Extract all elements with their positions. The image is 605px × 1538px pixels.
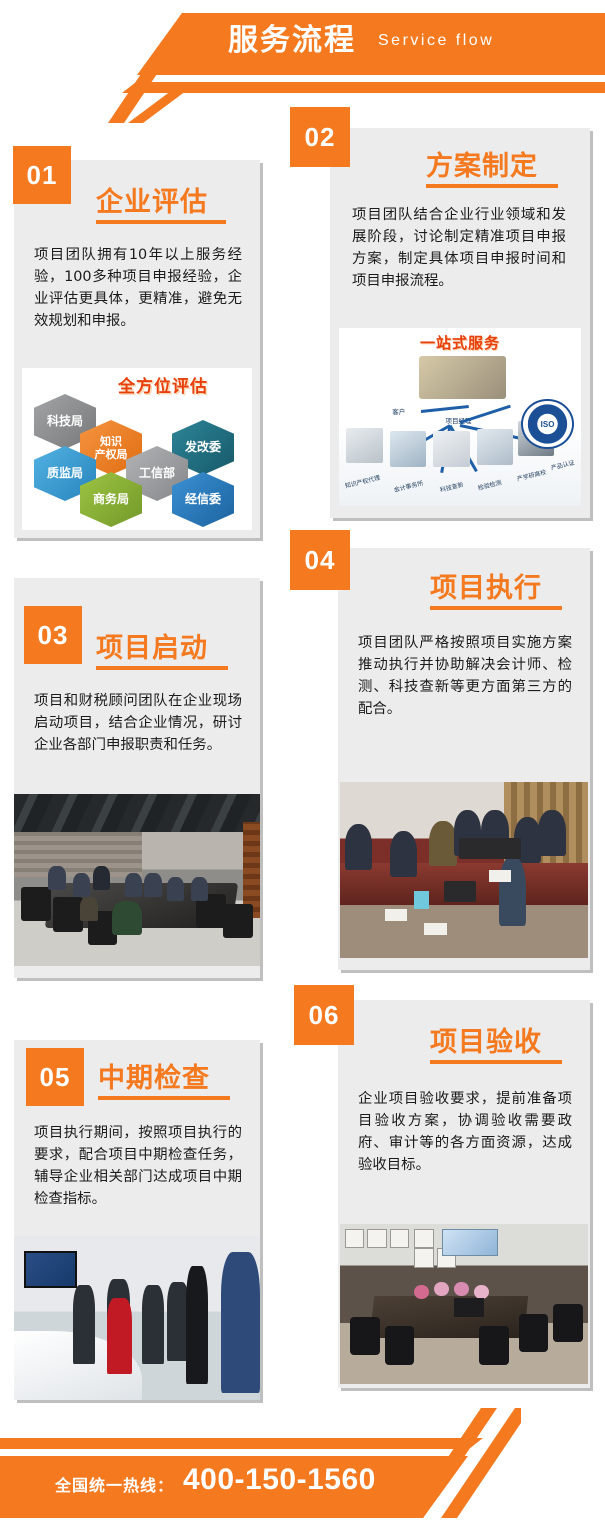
photo-laptop [459, 838, 491, 859]
photo-wall-frame [414, 1248, 433, 1268]
card-badge-06: 06 [294, 985, 354, 1045]
card-title-rule-03 [96, 666, 228, 670]
card-title-rule-06 [430, 1060, 562, 1064]
photo-person [429, 821, 456, 867]
photo-chair [350, 1317, 380, 1355]
oss-footer-label-6: 产品认证 [550, 458, 575, 473]
photo-wall-frame [345, 1229, 364, 1249]
hex-node-label: 工信部 [139, 467, 175, 480]
card-badge-04: 04 [290, 530, 350, 590]
photo-person-red-coat [107, 1298, 132, 1373]
photo-laptop [444, 881, 476, 902]
photo-flowers [454, 1282, 469, 1296]
iso-seal-icon: ISO [521, 399, 573, 449]
photo-paper [385, 909, 407, 921]
footer-stripe [0, 1438, 483, 1449]
oss-footer-label-5: 产学研高校 [516, 467, 547, 483]
photo-person [191, 877, 208, 901]
hex-node-label: 发改委 [185, 441, 221, 454]
step-card-01[interactable]: 企业评估 项目团队拥有10年以上服务经验，100多种项目申报经验，企业评估更具体… [14, 160, 260, 538]
hex-node-label: 质监局 [47, 467, 83, 480]
step-card-05[interactable]: 中期检查 项目执行期间，按照项目执行的要求，配合项目中期检查任务，辅导企业相关部… [14, 1040, 260, 1400]
photo-person [93, 866, 110, 890]
hotline-label: 全国统一热线： [55, 1472, 174, 1496]
page-subtitle: Service flow [378, 32, 494, 50]
hex-diagram: 全方位评估 科技局 知识 产权局 发改委 质监局 工信部 商务局 经信委 [22, 368, 252, 530]
header-stripe [122, 82, 605, 93]
card-title-rule-05 [98, 1096, 230, 1100]
card-badge-02: 02 [290, 107, 350, 167]
page-footer: 全国统一热线： 400-150-1560 [0, 1400, 605, 1538]
photo-chair [519, 1314, 549, 1352]
card-title-05: 中期检查 [98, 1056, 210, 1095]
header-band [137, 13, 605, 75]
card-title-rule-04 [430, 606, 562, 610]
photo-showroom-tour [14, 1236, 260, 1400]
one-stop-service-diagram: 一站式服务 客户 项目经理 ISO 知识产权代理 会计事务所 科技查新 检验检测… [339, 328, 581, 506]
oss-label-customer: 客户 [392, 406, 405, 416]
photo-laptop [454, 1298, 484, 1317]
card-body-05: 项目执行期间，按照项目执行的要求，配合项目中期检查任务，辅导企业相关部门达成项目… [34, 1122, 242, 1210]
card-title-02: 方案制定 [426, 144, 538, 183]
hex-node-label: 商务局 [93, 493, 129, 506]
hex-node-label: 知识 产权局 [95, 435, 128, 461]
step-card-02[interactable]: 方案制定 项目团队结合企业行业领域和发展阶段，讨论制定精准项目申报方案，制定具体… [330, 128, 590, 518]
photo-person [73, 1285, 95, 1364]
photo-paper [489, 870, 511, 882]
oss-footer-label-1: 知识产权代理 [344, 473, 381, 490]
photo-wall-frame [367, 1229, 386, 1249]
oss-hub-photo [419, 356, 506, 399]
photo-laptop [489, 838, 521, 859]
card-badge-05: 05 [26, 1048, 84, 1106]
hex-node-label: 经信委 [185, 493, 221, 506]
photo-flowers [434, 1282, 449, 1296]
card-body-02: 项目团队结合企业行业领域和发展阶段，讨论制定精准项目申报方案，制定具体项目申报时… [352, 204, 566, 292]
photo-person [125, 873, 142, 897]
photo-paper [424, 923, 446, 935]
oss-footer-label-3: 科技查新 [438, 479, 463, 494]
oss-node-3 [433, 431, 469, 467]
card-title-rule-02 [426, 184, 558, 188]
photo-chair [21, 887, 51, 921]
photo-wall-frame [390, 1229, 409, 1249]
step-card-06[interactable]: 项目验收 企业项目验收要求，提前准备项目验收方案，协调验收需要政府、审计等的各方… [338, 1000, 590, 1388]
card-title-03: 项目启动 [96, 626, 208, 665]
oss-node-4 [477, 429, 513, 465]
photo-conference-room [14, 794, 260, 966]
photo-person [186, 1266, 208, 1384]
card-body-04: 项目团队严格按照项目实施方案推动执行并协助解决会计师、检测、科技查新等更方面第三… [358, 632, 572, 720]
oss-footer-label-2: 会计事务所 [392, 478, 423, 494]
photo-person [144, 873, 161, 897]
photo-display-screen [24, 1251, 77, 1288]
photo-wall [14, 832, 142, 877]
photo-person [345, 824, 372, 870]
page-header: 服务流程 Service flow [0, 0, 605, 110]
photo-ceiling [14, 794, 260, 832]
photo-person [167, 877, 184, 901]
oss-node-1 [346, 428, 382, 464]
page-title: 服务流程 [228, 20, 356, 62]
photo-chair [553, 1304, 583, 1342]
hex-diagram-title: 全方位评估 [118, 372, 208, 397]
card-title-01: 企业评估 [96, 180, 208, 219]
photo-person [48, 866, 65, 890]
photo-bag [414, 891, 429, 909]
photo-chair [385, 1326, 415, 1364]
photo-acceptance-meeting [340, 1224, 588, 1384]
photo-projector-screen [442, 1229, 499, 1257]
step-card-03[interactable]: 项目启动 项目和财税顾问团队在企业现场启动项目，结合企业情况，研讨企业各部门申报… [14, 578, 260, 978]
photo-person [538, 810, 565, 856]
card-title-rule-01 [96, 220, 226, 224]
photo-person [142, 1285, 164, 1364]
card-title-04: 项目执行 [430, 566, 542, 605]
card-title-06: 项目验收 [430, 1020, 542, 1059]
card-badge-03: 03 [24, 606, 82, 664]
oss-node-2 [390, 431, 426, 467]
photo-person [390, 831, 417, 877]
oss-title: 一站式服务 [339, 332, 581, 353]
photo-working-meeting [340, 782, 588, 958]
card-body-03: 项目和财税顾问团队在企业现场启动项目，结合企业情况，研讨企业各部门申报职责和任务… [34, 690, 242, 756]
photo-chair [223, 904, 253, 938]
card-badge-01: 01 [13, 146, 71, 204]
oss-footer-label-4: 检验检测 [477, 477, 502, 492]
photo-person [112, 901, 142, 935]
photo-person [80, 897, 97, 921]
photo-wall-frame [414, 1229, 433, 1249]
photo-person [73, 873, 90, 897]
card-body-06: 企业项目验收要求，提前准备项目验收方案，协调验收需要政府、审计等的各方面资源，达… [358, 1088, 572, 1176]
step-card-04[interactable]: 项目执行 项目团队严格按照项目实施方案推动执行并协助解决会计师、检测、科技查新等… [338, 548, 590, 970]
photo-person [499, 856, 526, 926]
photo-person [221, 1252, 260, 1393]
oss-arrow-1 [421, 405, 469, 413]
hotline-number[interactable]: 400-150-1560 [183, 1463, 376, 1497]
photo-chair [53, 897, 83, 931]
hex-node-label: 科技局 [47, 415, 83, 428]
iso-seal-text: ISO [523, 401, 571, 447]
card-body-01: 项目团队拥有10年以上服务经验，100多种项目申报经验，企业评估更具体，更精准，… [34, 244, 242, 332]
photo-chair [479, 1326, 509, 1364]
